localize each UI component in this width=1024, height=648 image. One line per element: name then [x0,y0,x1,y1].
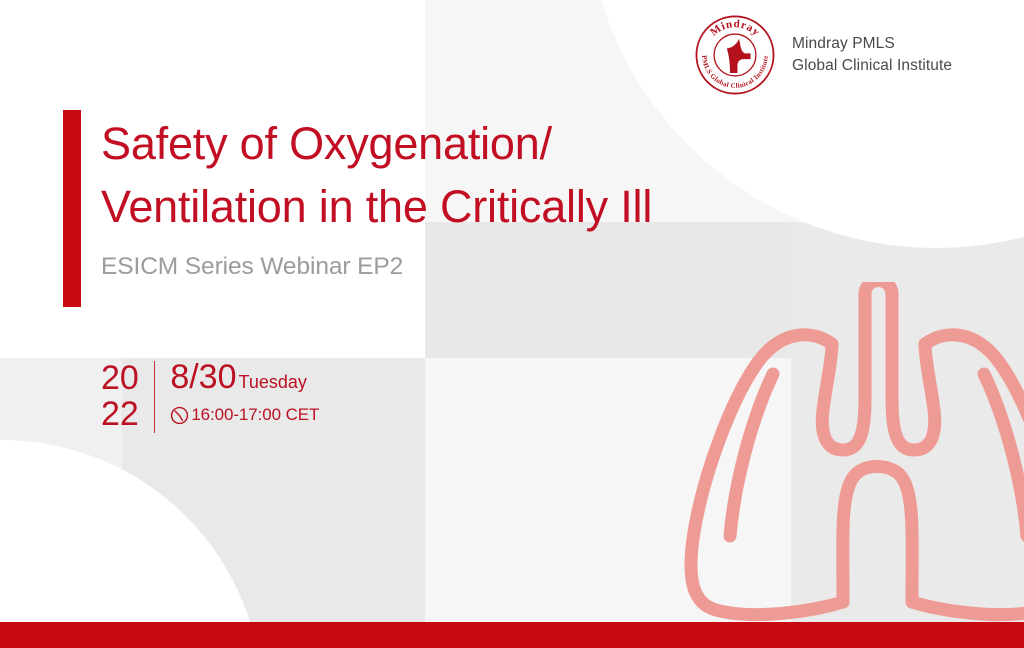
webinar-poster: Mindray PMLS Global Clinical Institute M… [0,0,1024,648]
bottom-red-bar [0,622,1024,648]
background-panel-right-band [791,222,1024,622]
year-bottom: 22 [101,396,139,432]
title-line-1: Safety of Oxygenation/ [101,112,801,175]
title-block: Safety of Oxygenation/ Ventilation in th… [101,112,801,282]
background-mosaic [0,0,1024,648]
year-column: 20 22 [101,358,139,432]
date-row: 8/30 Tuesday [170,358,319,401]
brand-name-text: Mindray PMLS Global Clinical Institute [792,33,952,77]
brand-line-2: Global Clinical Institute [792,55,952,77]
title-line-2: Ventilation in the Critically Ill [101,175,801,238]
brand-header: Mindray PMLS Global Clinical Institute M… [694,14,952,96]
background-panel-mid-right [425,358,791,622]
year-top: 20 [101,360,139,396]
date-detail-column: 8/30 Tuesday 16:00-17:00 CET [170,358,319,425]
clock-icon [170,406,189,425]
page-title: Safety of Oxygenation/ Ventilation in th… [101,112,801,238]
mindray-seal-icon: Mindray PMLS Global Clinical Institute [694,14,776,96]
page-subtitle: ESICM Series Webinar EP2 [101,252,801,282]
date-divider [154,361,156,433]
date-time-block: 20 22 8/30 Tuesday 16:00-17:00 CET [101,358,319,433]
time-row: 16:00-17:00 CET [170,405,319,425]
title-accent-bar [63,110,81,307]
time-range: 16:00-17:00 CET [191,405,319,425]
month-day: 8/30 [170,358,236,396]
weekday: Tuesday [239,363,307,401]
brand-line-1: Mindray PMLS [792,33,952,55]
